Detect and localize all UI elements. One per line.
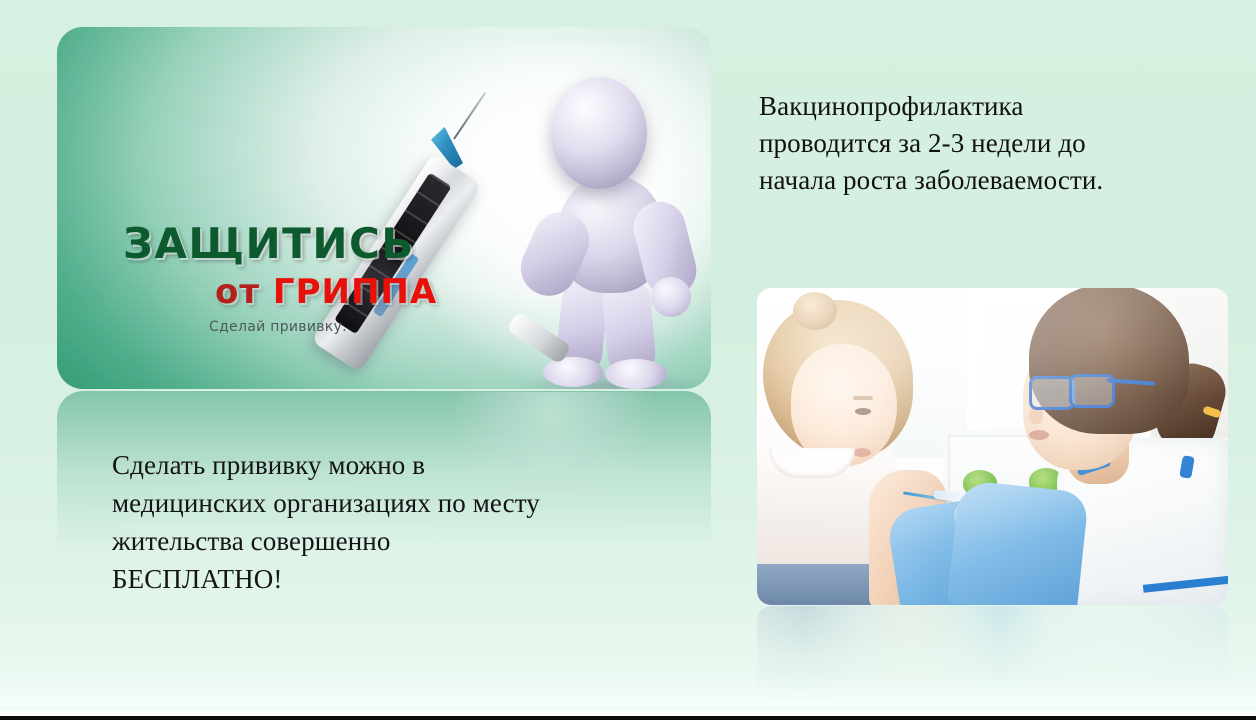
photo-light-haze	[757, 288, 1228, 605]
vaccination-photo-canvas	[757, 288, 1228, 605]
flu-poster-canvas: ЗАЩИТИСЬ от ГРИППА Сделай прививку.	[57, 27, 711, 389]
text-block-vaccine-timing: Вакцинопрофилактика проводится за 2-3 не…	[759, 88, 1199, 199]
poster-texture	[57, 27, 711, 389]
text-line: медицинских организациях по месту	[112, 484, 672, 522]
poster-tagline: Сделай прививку.	[209, 319, 347, 335]
text-line: БЕСПЛАТНО!	[112, 560, 672, 598]
slide-bottom-edge	[0, 716, 1256, 720]
text-line: проводится за 2-3 недели до	[759, 125, 1199, 162]
poster-subline: от ГРИППА	[215, 275, 437, 309]
photo-reflection	[757, 606, 1228, 710]
poster-headline: ЗАЩИТИСЬ	[123, 223, 415, 265]
poster-subline-main: ГРИППА	[273, 272, 437, 312]
text-line: Сделать прививку можно в	[112, 446, 672, 484]
vaccination-photo[interactable]	[757, 288, 1228, 605]
flu-poster[interactable]: ЗАЩИТИСЬ от ГРИППА Сделай прививку.	[57, 27, 711, 389]
text-block-free-vaccination: Сделать прививку можно в медицинских орг…	[112, 446, 672, 598]
slide-bottom-fade	[0, 707, 1256, 716]
poster-subline-prefix: от	[215, 272, 260, 312]
text-line: жительства совершенно	[112, 522, 672, 560]
text-line: начала роста заболеваемости.	[759, 162, 1199, 199]
text-line: Вакцинопрофилактика	[759, 88, 1199, 125]
presentation-slide: ЗАЩИТИСЬ от ГРИППА Сделай прививку. Вакц…	[0, 0, 1256, 720]
